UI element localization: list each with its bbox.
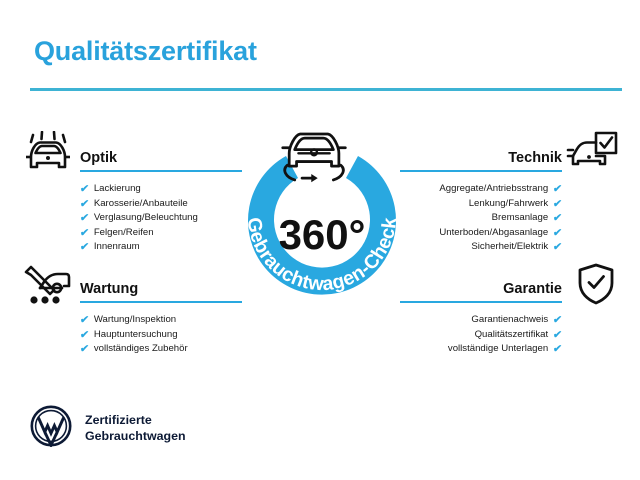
check-icon: ✔ <box>553 344 563 355</box>
check-icon: ✔ <box>79 344 89 355</box>
badge-center-text: 360° <box>279 211 366 258</box>
list-item-label: Karosserie/Anbauteile <box>94 197 188 212</box>
section-wartung-divider <box>80 301 242 303</box>
list-item: Lenkung/Fahrwerk ✔ <box>400 197 562 212</box>
section-technik: Technik Aggregate/Antriebsstrang ✔ Lenku… <box>400 140 562 255</box>
list-item: Bremsanlage ✔ <box>400 211 562 226</box>
list-item-label: Qualitätszertifikat <box>475 328 549 343</box>
list-item: ✔ Innenraum <box>80 240 242 255</box>
list-item-label: Unterboden/Abgasanlage <box>439 226 548 241</box>
check-icon: ✔ <box>553 242 563 253</box>
list-item: Aggregate/Antriebsstrang ✔ <box>400 182 562 197</box>
list-item-label: Lackierung <box>94 182 141 197</box>
list-item: ✔ Karosserie/Anbauteile <box>80 197 242 212</box>
title-divider <box>30 88 622 91</box>
list-item: ✔ Felgen/Reifen <box>80 226 242 241</box>
section-optik-list: ✔ Lackierung ✔ Karosserie/Anbauteile ✔ V… <box>80 182 242 255</box>
check-icon: ✔ <box>553 228 563 239</box>
list-item: ✔ Hauptuntersuchung <box>80 328 242 343</box>
check-icon: ✔ <box>79 199 89 210</box>
section-garantie-title: Garantie <box>503 281 562 297</box>
check-icon: ✔ <box>79 315 89 326</box>
section-garantie-divider <box>400 301 562 303</box>
check-icon: ✔ <box>553 184 563 195</box>
section-optik-title: Optik <box>80 150 117 166</box>
list-item-label: Aggregate/Antriebsstrang <box>439 182 548 197</box>
list-item: ✔ Verglasung/Beleuchtung <box>80 211 242 226</box>
check-icon: ✔ <box>553 199 563 210</box>
section-optik-header: Optik <box>80 140 242 170</box>
list-item: Garantienachweis ✔ <box>400 313 562 328</box>
list-item-label: Hauptuntersuchung <box>94 328 178 343</box>
section-garantie-list: Garantienachweis ✔ Qualitätszertifikat ✔… <box>400 313 562 357</box>
volkswagen-logo <box>30 405 72 452</box>
check-icon: ✔ <box>79 242 89 253</box>
page-title: Qualitätszertifikat <box>34 36 257 67</box>
check-icon: ✔ <box>553 330 563 341</box>
check-icon: ✔ <box>79 184 89 195</box>
list-item: Qualitätszertifikat ✔ <box>400 328 562 343</box>
list-item: ✔ vollständiges Zubehör <box>80 342 242 357</box>
list-item-label: Felgen/Reifen <box>94 226 154 241</box>
section-optik-divider <box>80 170 242 172</box>
list-item: Unterboden/Abgasanlage ✔ <box>400 226 562 241</box>
section-garantie-header: Garantie <box>400 271 562 301</box>
shield-check-icon <box>574 262 618 306</box>
check-icon: ✔ <box>553 213 563 224</box>
section-optik: Optik ✔ Lackierung ✔ Karosserie/Anbautei… <box>80 140 242 255</box>
section-technik-title: Technik <box>508 150 562 166</box>
list-item-label: Wartung/Inspektion <box>94 313 176 328</box>
car-wrench-icon <box>22 262 74 306</box>
section-wartung-title: Wartung <box>80 281 138 297</box>
list-item-label: Lenkung/Fahrwerk <box>469 197 548 212</box>
section-garantie: Garantie Garantienachweis ✔ Qualitätszer… <box>400 271 562 357</box>
section-wartung-header: Wartung <box>80 271 242 301</box>
list-item-label: vollständige Unterlagen <box>448 342 548 357</box>
volkswagen-lockup-text: Zertifizierte Gebrauchtwagen <box>85 413 186 444</box>
car-checkbox-icon <box>566 131 618 175</box>
section-wartung: Wartung ✔ Wartung/Inspektion ✔ Hauptunte… <box>80 271 242 357</box>
list-item-label: Verglasung/Beleuchtung <box>94 211 198 226</box>
certificate-page: Qualitätszertifikat Optik <box>0 0 640 480</box>
check-icon: ✔ <box>79 213 89 224</box>
list-item-label: vollständiges Zubehör <box>94 342 188 357</box>
check-icon: ✔ <box>553 315 563 326</box>
check-icon: ✔ <box>79 330 89 341</box>
list-item: vollständige Unterlagen ✔ <box>400 342 562 357</box>
360-gebrauchtwagen-check-badge: Gebrauchtwagen-Check 360° <box>222 116 422 316</box>
list-item-label: Innenraum <box>94 240 140 255</box>
section-technik-list: Aggregate/Antriebsstrang ✔ Lenkung/Fahrw… <box>400 182 562 255</box>
list-item-label: Sicherheit/Elektrik <box>471 240 548 255</box>
list-item: ✔ Wartung/Inspektion <box>80 313 242 328</box>
list-item: Sicherheit/Elektrik ✔ <box>400 240 562 255</box>
list-item-label: Bremsanlage <box>492 211 549 226</box>
rotation-arrow-icon <box>311 174 317 182</box>
list-item-label: Garantienachweis <box>471 313 548 328</box>
section-technik-divider <box>400 170 562 172</box>
car-shine-icon <box>22 131 74 175</box>
list-item: ✔ Lackierung <box>80 182 242 197</box>
volkswagen-lockup: Zertifizierte Gebrauchtwagen <box>30 405 186 452</box>
check-icon: ✔ <box>79 228 89 239</box>
section-wartung-list: ✔ Wartung/Inspektion ✔ Hauptuntersuchung… <box>80 313 242 357</box>
section-technik-header: Technik <box>400 140 562 170</box>
